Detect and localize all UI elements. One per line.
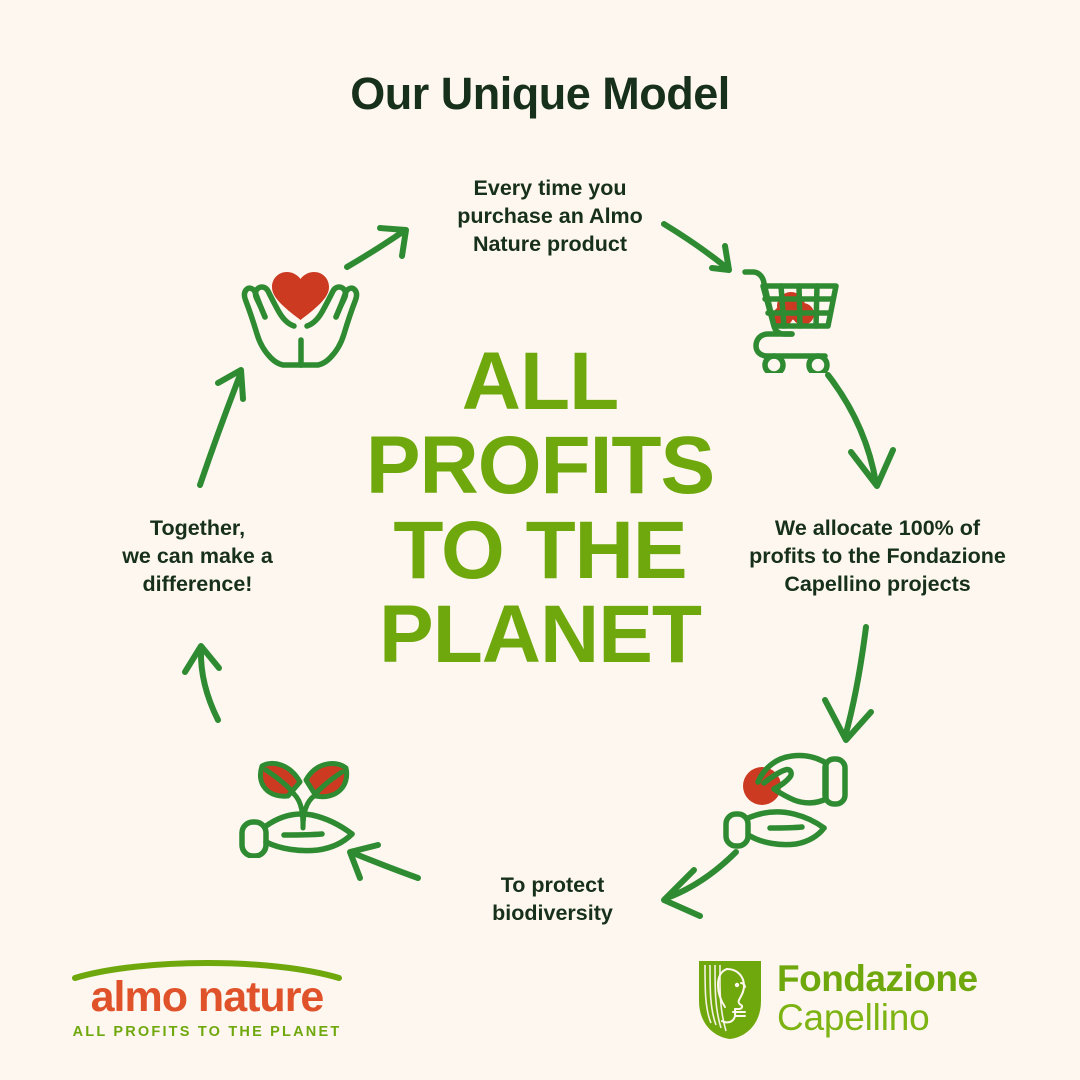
infographic-canvas: Our Unique Model xyxy=(0,0,1080,1080)
almo-nature-wordmark: almo nature xyxy=(62,976,352,1019)
step-caption-purchase: Every time you purchase an Almo Nature p… xyxy=(410,175,690,259)
almo-nature-tagline: ALL PROFITS TO THE PLANET xyxy=(62,1024,352,1040)
step-caption-together: Together, we can make a difference! xyxy=(85,515,310,599)
fondazione-line-1: Fondazione xyxy=(777,959,1037,998)
center-headline: ALL PROFITS TO THE PLANET xyxy=(290,340,790,678)
step-caption-allocate: We allocate 100% of profits to the Fonda… xyxy=(715,515,1040,599)
arrow-to-heart-hands xyxy=(200,370,243,485)
step-caption-biodiversity: To protect biodiversity xyxy=(430,872,675,928)
arrow-to-giving-hands xyxy=(825,627,871,740)
fondazione-line-2: Capellino xyxy=(777,998,1037,1037)
arrow-to-together xyxy=(185,646,219,720)
arrow-to-allocate xyxy=(828,375,893,486)
shopping-cart-icon xyxy=(733,258,851,373)
fondazione-capellino-wordmark: Fondazione Capellino xyxy=(777,959,1037,1037)
giving-hands-coin-icon xyxy=(718,742,853,857)
plant-in-hand-icon xyxy=(232,740,367,858)
fondazione-capellino-logo: Fondazione Capellino xyxy=(697,955,1037,1045)
almo-nature-logo: almo nature ALL PROFITS TO THE PLANET xyxy=(62,958,352,1050)
heart-in-hands-icon xyxy=(238,252,363,370)
page-title: Our Unique Model xyxy=(0,68,1080,120)
fondazione-shield-icon xyxy=(697,959,763,1041)
